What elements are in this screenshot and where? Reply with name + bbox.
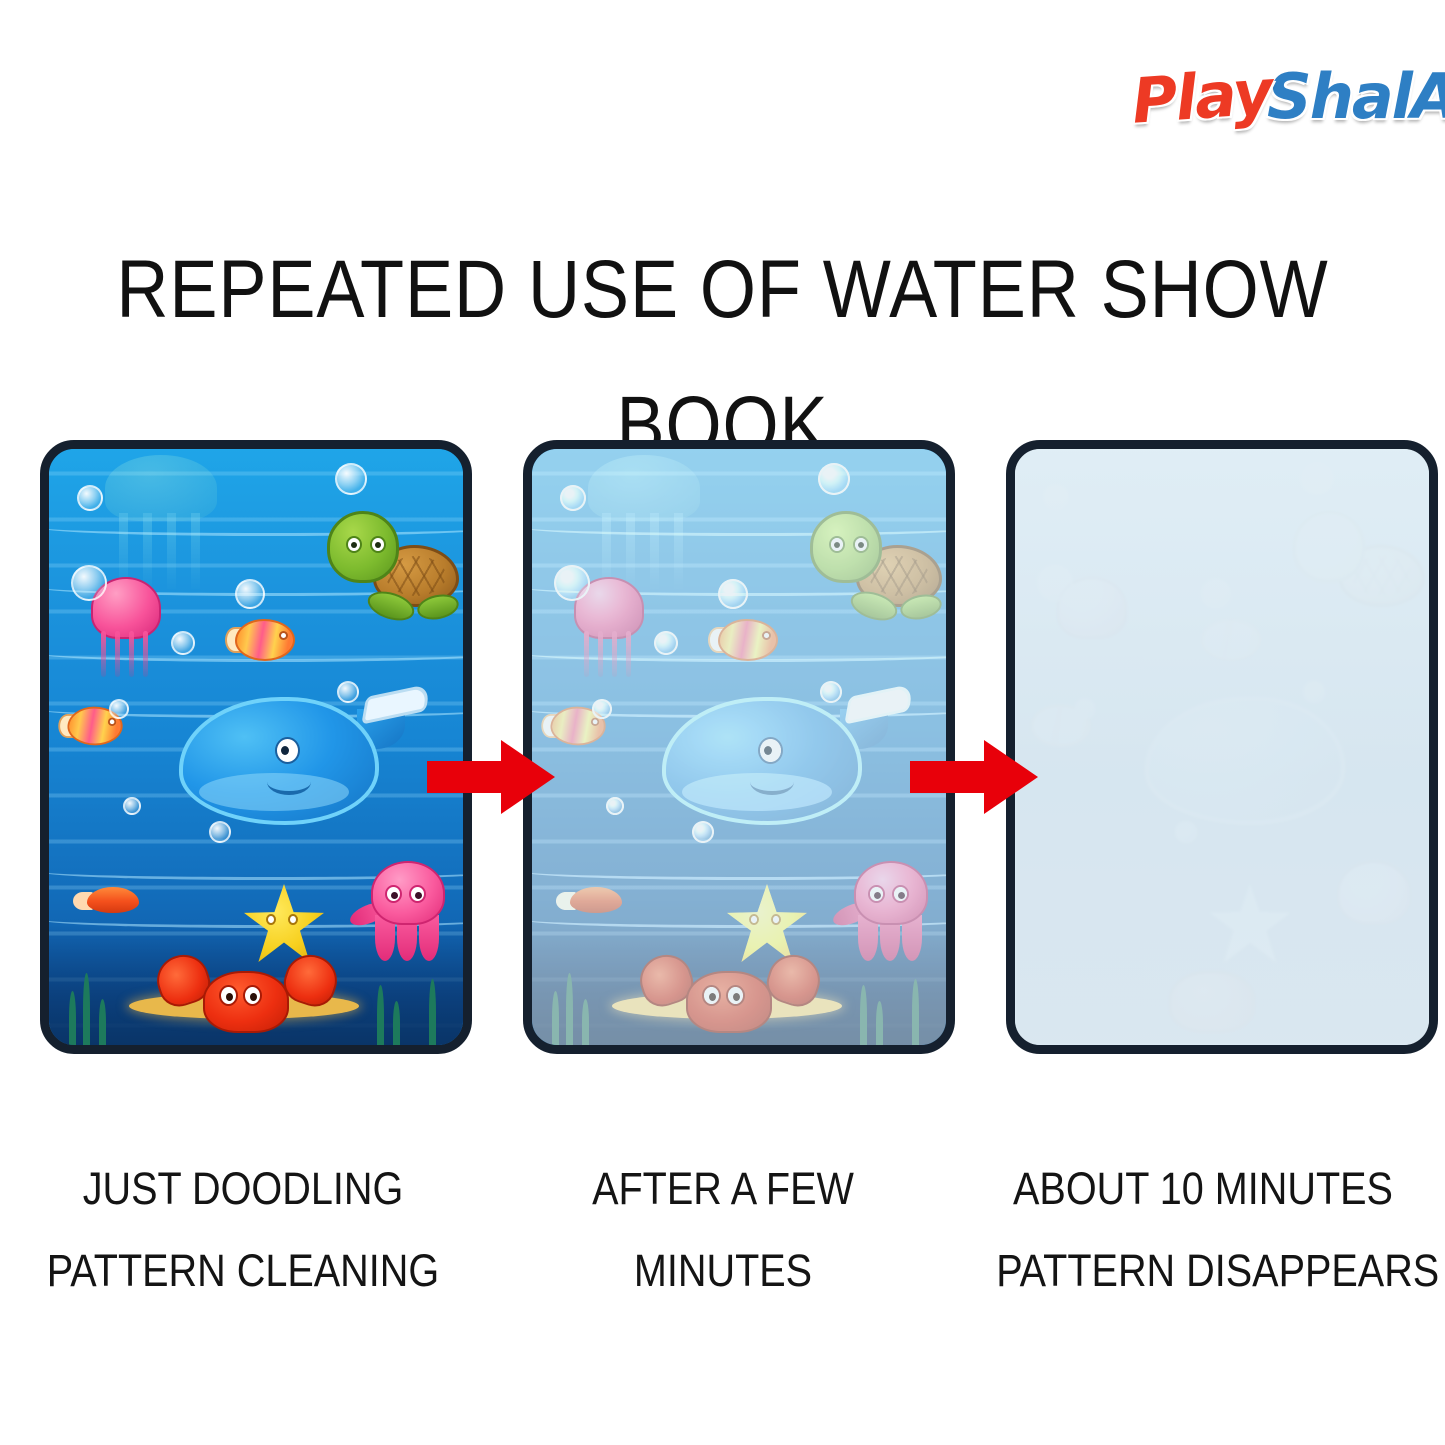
bubble [337,681,359,703]
bubble [1301,463,1333,495]
bubble [123,797,141,815]
octopus-head [371,861,445,925]
arrow-step-1-to-2-icon [427,738,555,816]
bubble [692,821,714,843]
fish-eye [279,631,288,640]
fish-body [570,887,622,913]
panel-partially-faded [523,440,955,1054]
fish-body [87,887,139,913]
panel-full-color [40,440,472,1054]
bubble [718,579,748,609]
starfish-eye [749,914,759,925]
bubble [560,485,586,511]
bubble [335,463,367,495]
whale-icon [1145,687,1395,837]
underwater-scene-art [49,449,463,1045]
crab-icon [1123,949,1303,1041]
bubble [606,797,624,815]
jellyfish-tentacle [129,631,134,677]
striped-fish-icon [708,617,790,663]
whale-smile [750,769,794,795]
bubble [1075,699,1095,719]
starfish-eye [771,914,781,925]
panel-row [0,440,1445,1060]
caption-row: JUST DOODLING PATTERN CLEANING AFTER A F… [0,1148,1445,1328]
brand-logo-play: Play [1130,55,1274,138]
small-fish-icon [73,887,143,915]
seaweed [582,999,589,1045]
caption-step-3: ABOUT 10 MINUTES PATTERN DISAPPEARS [996,1148,1410,1312]
seaweed [860,985,867,1045]
bubble [654,631,678,655]
background-jellyfish [97,455,225,595]
background-jellyfish-tentacle [191,513,200,589]
octopus-icon [832,861,942,969]
octopus-eye [868,885,885,903]
starfish-eye [288,914,298,925]
bubble [1201,579,1231,609]
bubble [235,579,265,609]
bubble [1175,821,1197,843]
jellyfish-tentacle [115,631,120,677]
fish-body [235,619,295,661]
seaweed [99,999,106,1045]
turtle-head [1293,511,1365,583]
jellyfish-tentacle [101,631,106,677]
bubble [109,699,129,719]
whale-eye [275,737,300,764]
underwater-scene-art-vanished [1015,449,1429,1045]
bubble [71,565,107,601]
seaweed [377,985,384,1045]
caption-step-1-line2: PATTERN CLEANING [36,1230,450,1312]
brand-logo: PlayShalA [1132,48,1445,144]
turtle-icon [321,511,461,625]
bubble [592,699,612,719]
crab-icon [640,949,820,1041]
turtle-icon [1287,511,1427,625]
caption-step-2-line1: AFTER A FEW [516,1148,930,1230]
seaweed [566,973,573,1045]
octopus-head [854,861,928,925]
bubble [209,821,231,843]
whale-icon [179,687,429,837]
caption-step-2: AFTER A FEW MINUTES [516,1148,930,1312]
fish-eye [108,718,116,726]
crab-icon [157,949,337,1041]
bubble [1043,485,1069,511]
seaweed [83,973,90,1045]
bubble [818,463,850,495]
whale-eye [758,737,783,764]
seaweed [876,1001,883,1045]
striped-fish-icon [225,617,307,663]
arrow-step-2-to-3-icon [910,738,1038,816]
octopus-head [1337,861,1411,925]
turtle-eye [370,536,386,553]
crab-eye [702,985,721,1006]
bubble [77,485,103,511]
starfish-face [749,914,785,930]
crab-eye [219,985,238,1006]
striped-fish-icon [1191,617,1273,663]
background-jellyfish-bell [105,455,217,521]
jellyfish-tentacle [612,631,617,677]
octopus-eye [892,885,909,903]
panel-blank [1006,440,1438,1054]
turtle-head [810,511,882,583]
bubble [1303,681,1325,703]
seaweed [393,1001,400,1045]
crab-eye [243,985,262,1006]
seaweed [552,991,559,1045]
caption-step-1: JUST DOODLING PATTERN CLEANING [36,1148,450,1312]
whale-smile [267,769,311,795]
turtle-eye [829,536,845,553]
background-jellyfish-tentacle [674,513,683,589]
turtle-eye [346,536,362,553]
jellyfish-tentacle [584,631,589,677]
background-jellyfish [580,455,708,595]
starfish-face [266,914,302,930]
small-fish-icon [556,887,626,915]
jellyfish-tentacle [626,631,631,677]
whale-icon [662,687,912,837]
jellyfish-tentacle [143,631,148,677]
fish-eye [762,631,771,640]
underwater-scene-art-faded [532,449,946,1045]
seaweed [69,991,76,1045]
bubble [1037,565,1073,601]
caption-step-2-line2: MINUTES [516,1230,930,1312]
caption-step-1-line1: JUST DOODLING [36,1148,450,1230]
fish-body [718,619,778,661]
header: REPEATED USE OF WATER SHOW BOOK PlayShal… [0,0,1445,330]
turtle-head [327,511,399,583]
crab-body [1169,971,1255,1033]
crab-eye [726,985,745,1006]
starfish-eye [266,914,276,925]
caption-step-3-line2: PATTERN DISAPPEARS [996,1230,1410,1312]
octopus-icon [349,861,459,969]
seaweed [429,979,436,1045]
jellyfish-tentacle [598,631,603,677]
fish-body [1201,619,1261,661]
brand-logo-shala: ShalA [1267,60,1445,133]
octopus-eye [409,885,426,903]
bubble [171,631,195,655]
caption-step-3-line1: ABOUT 10 MINUTES [996,1148,1410,1230]
bubble [820,681,842,703]
octopus-icon [1315,861,1425,969]
turtle-eye [853,536,869,553]
background-jellyfish-bell [588,455,700,521]
fish-eye [591,718,599,726]
seaweed [912,979,919,1045]
octopus-eye [385,885,402,903]
page-title-line1: REPEATED USE OF WATER SHOW [116,244,1328,335]
turtle-icon [804,511,944,625]
bubble [554,565,590,601]
whale-body [1145,697,1345,825]
